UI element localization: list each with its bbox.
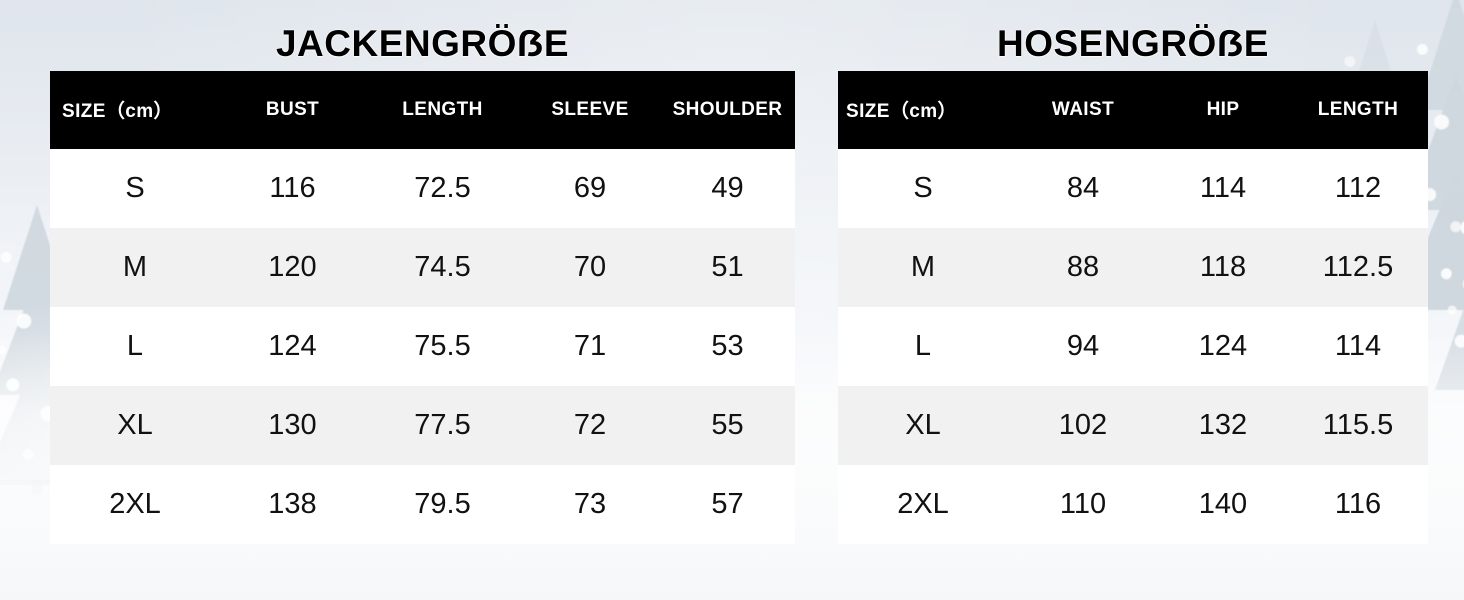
table-header-row: SIZE（cm） BUST LENGTH SLEEVE SHOULDER — [50, 71, 795, 149]
cell-sleeve: 71 — [520, 307, 660, 386]
cell-size: L — [50, 307, 220, 386]
column-header-bust: BUST — [220, 71, 365, 149]
cell-length: 112.5 — [1288, 228, 1428, 307]
cell-hip: 114 — [1158, 149, 1288, 228]
cell-bust: 116 — [220, 149, 365, 228]
cell-waist: 102 — [1008, 386, 1158, 465]
column-header-sleeve: SLEEVE — [520, 71, 660, 149]
column-header-waist: WAIST — [1008, 71, 1158, 149]
cell-shoulder: 55 — [660, 386, 795, 465]
cell-length: 116 — [1288, 465, 1428, 544]
cell-size: 2XL — [50, 465, 220, 544]
cell-size: 2XL — [838, 465, 1008, 544]
pants-table-header: SIZE（cm） WAIST HIP LENGTH — [838, 71, 1428, 149]
jacket-size-chart: JACKENGRÖẞE SIZE（cm） BUST LENGTH SLEEVE … — [50, 0, 795, 544]
pants-size-table: SIZE（cm） WAIST HIP LENGTH S 84 114 112 M… — [838, 71, 1428, 544]
column-header-size: SIZE（cm） — [838, 71, 1008, 149]
cell-shoulder: 51 — [660, 228, 795, 307]
column-header-length: LENGTH — [365, 71, 520, 149]
table-row: S 84 114 112 — [838, 149, 1428, 228]
cell-shoulder: 57 — [660, 465, 795, 544]
cell-bust: 138 — [220, 465, 365, 544]
cell-hip: 140 — [1158, 465, 1288, 544]
table-row: XL 102 132 115.5 — [838, 386, 1428, 465]
column-header-size: SIZE（cm） — [50, 71, 220, 149]
table-header-row: SIZE（cm） WAIST HIP LENGTH — [838, 71, 1428, 149]
cell-size: XL — [838, 386, 1008, 465]
cell-length: 72.5 — [365, 149, 520, 228]
pants-size-chart: HOSENGRÖẞE SIZE（cm） WAIST HIP LENGTH S 8… — [838, 0, 1428, 544]
table-row: XL 130 77.5 72 55 — [50, 386, 795, 465]
cell-length: 79.5 — [365, 465, 520, 544]
cell-waist: 94 — [1008, 307, 1158, 386]
table-row: M 88 118 112.5 — [838, 228, 1428, 307]
column-header-length: LENGTH — [1288, 71, 1428, 149]
pants-chart-title: HOSENGRÖẞE — [838, 0, 1428, 71]
jacket-chart-title: JACKENGRÖẞE — [50, 0, 795, 71]
column-header-hip: HIP — [1158, 71, 1288, 149]
cell-sleeve: 73 — [520, 465, 660, 544]
cell-hip: 124 — [1158, 307, 1288, 386]
jacket-size-table: SIZE（cm） BUST LENGTH SLEEVE SHOULDER S 1… — [50, 71, 795, 544]
cell-size: L — [838, 307, 1008, 386]
cell-waist: 88 — [1008, 228, 1158, 307]
jacket-table-body: S 116 72.5 69 49 M 120 74.5 70 51 L 124 … — [50, 149, 795, 544]
column-header-shoulder: SHOULDER — [660, 71, 795, 149]
cell-waist: 84 — [1008, 149, 1158, 228]
cell-shoulder: 49 — [660, 149, 795, 228]
cell-sleeve: 72 — [520, 386, 660, 465]
table-row: L 94 124 114 — [838, 307, 1428, 386]
table-row: 2XL 110 140 116 — [838, 465, 1428, 544]
table-row: L 124 75.5 71 53 — [50, 307, 795, 386]
cell-shoulder: 53 — [660, 307, 795, 386]
cell-length: 77.5 — [365, 386, 520, 465]
cell-bust: 124 — [220, 307, 365, 386]
cell-sleeve: 69 — [520, 149, 660, 228]
cell-size: S — [838, 149, 1008, 228]
cell-length: 115.5 — [1288, 386, 1428, 465]
cell-length: 112 — [1288, 149, 1428, 228]
cell-bust: 130 — [220, 386, 365, 465]
cell-size: M — [838, 228, 1008, 307]
cell-hip: 118 — [1158, 228, 1288, 307]
cell-size: S — [50, 149, 220, 228]
cell-length: 114 — [1288, 307, 1428, 386]
pants-table-body: S 84 114 112 M 88 118 112.5 L 94 124 114 — [838, 149, 1428, 544]
cell-length: 75.5 — [365, 307, 520, 386]
cell-hip: 132 — [1158, 386, 1288, 465]
jacket-table-header: SIZE（cm） BUST LENGTH SLEEVE SHOULDER — [50, 71, 795, 149]
table-row: 2XL 138 79.5 73 57 — [50, 465, 795, 544]
cell-size: XL — [50, 386, 220, 465]
cell-bust: 120 — [220, 228, 365, 307]
cell-length: 74.5 — [365, 228, 520, 307]
cell-waist: 110 — [1008, 465, 1158, 544]
table-row: S 116 72.5 69 49 — [50, 149, 795, 228]
cell-sleeve: 70 — [520, 228, 660, 307]
cell-size: M — [50, 228, 220, 307]
table-row: M 120 74.5 70 51 — [50, 228, 795, 307]
